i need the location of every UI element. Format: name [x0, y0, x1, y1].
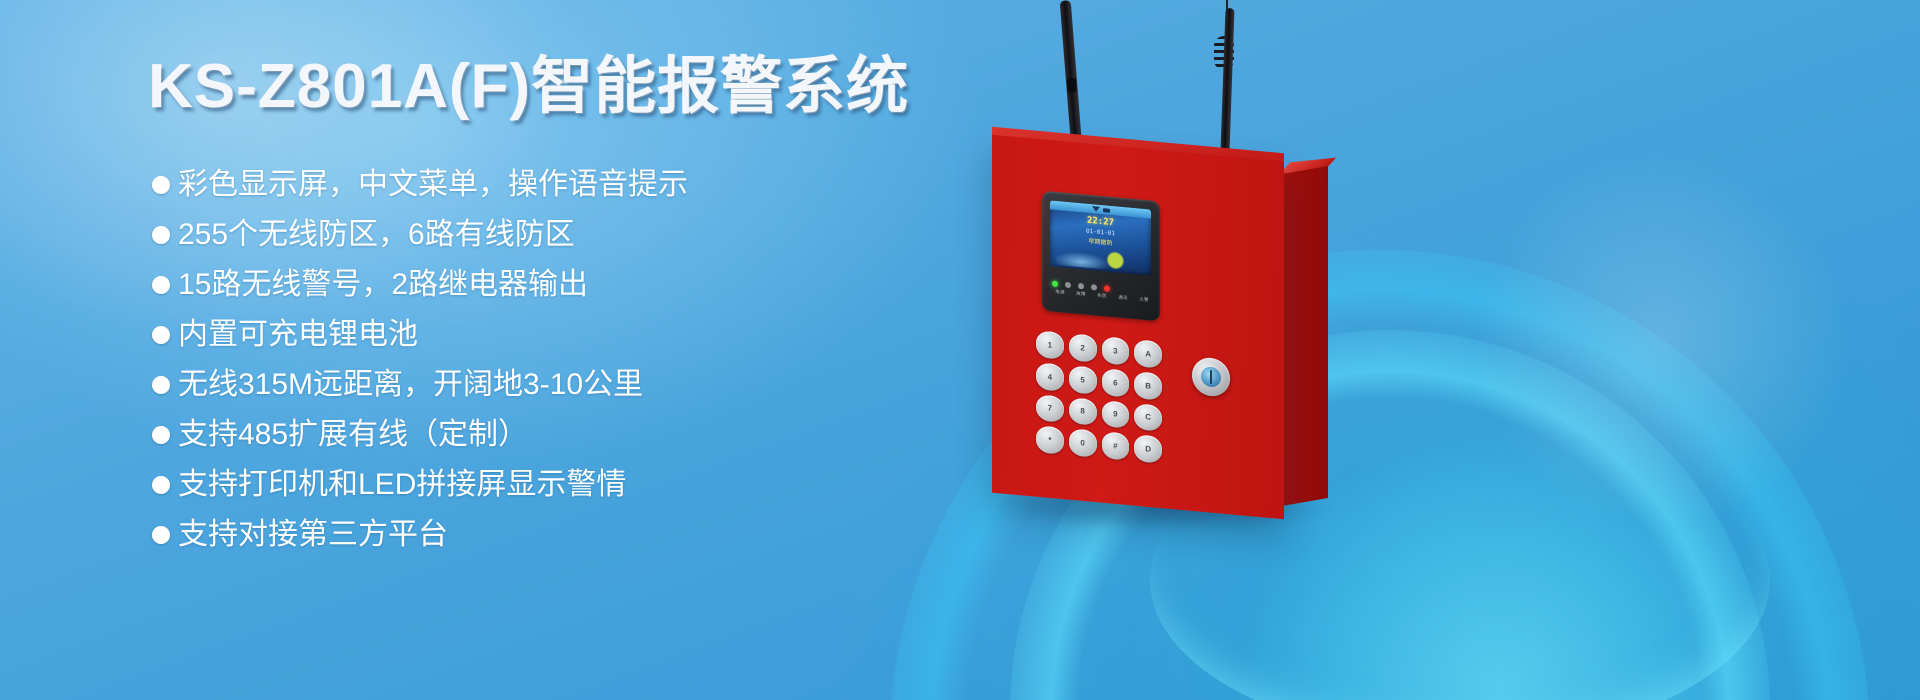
keypad-key[interactable]: C — [1134, 403, 1162, 432]
led-fault-indicator — [1065, 282, 1071, 289]
keypad-key[interactable]: 6 — [1102, 368, 1130, 397]
enclosure-side-panel — [1282, 166, 1328, 506]
bullet-dot-icon — [152, 476, 170, 494]
led-label: 火警 — [1136, 296, 1152, 306]
bullet-dot-icon — [152, 276, 170, 294]
banner-copy: KS-Z801A(F)智能报警系统 彩色显示屏，中文菜单，操作语音提示 255个… — [0, 0, 960, 700]
battery-icon — [1103, 208, 1110, 213]
feature-text: 无线315M远距离，开阔地3-10公里 — [178, 360, 643, 410]
keypad-key[interactable]: 7 — [1036, 394, 1064, 423]
led-label: 布防 — [1094, 292, 1110, 302]
feature-text: 支持485扩展有线（定制） — [178, 410, 528, 460]
keypad-key[interactable]: A — [1134, 339, 1162, 368]
feature-text: 15路无线警号，2路继电器输出 — [178, 260, 588, 310]
led-label: 故障 — [1073, 290, 1089, 300]
signal-icon — [1092, 206, 1100, 212]
antenna-right — [1220, 8, 1235, 166]
bullet-dot-icon — [152, 326, 170, 344]
keypad-key[interactable]: D — [1134, 434, 1162, 463]
feature-text: 支持对接第三方平台 — [178, 510, 448, 560]
led-label: 通讯 — [1115, 294, 1131, 304]
bullet-dot-icon — [152, 176, 170, 194]
feature-text: 内置可充电锂电池 — [178, 310, 418, 360]
lock-core — [1201, 366, 1221, 388]
feature-text: 支持打印机和LED拼接屏显示警情 — [178, 460, 626, 510]
keypad[interactable]: 1 2 3 A 4 5 6 B 7 8 9 C * 0 # D — [1036, 330, 1162, 463]
alarm-control-panel: 22:27 01-01-01 早期撤防 电源 故障 布防 通讯 火警 1 — [930, 0, 1430, 700]
keypad-key[interactable]: 1 — [1036, 330, 1064, 359]
led-power-indicator — [1052, 281, 1058, 288]
lock-keyslot — [1210, 370, 1212, 384]
feature-text: 彩色显示屏，中文菜单，操作语音提示 — [178, 160, 688, 210]
feature-list: 彩色显示屏，中文菜单，操作语音提示 255个无线防区，6路有线防区 15路无线警… — [152, 160, 688, 560]
keypad-key[interactable]: 9 — [1102, 400, 1130, 429]
bullet-dot-icon — [152, 226, 170, 244]
display-bezel: 22:27 01-01-01 早期撤防 电源 故障 布防 通讯 火警 — [1042, 191, 1160, 322]
feature-text: 255个无线防区，6路有线防区 — [178, 210, 575, 260]
list-item: 支持打印机和LED拼接屏显示警情 — [152, 460, 688, 510]
bullet-dot-icon — [152, 526, 170, 544]
keypad-key[interactable]: 5 — [1069, 365, 1097, 394]
list-item: 支持对接第三方平台 — [152, 510, 688, 560]
list-item: 无线315M远距离，开阔地3-10公里 — [152, 360, 688, 410]
bullet-dot-icon — [152, 376, 170, 394]
list-item: 255个无线防区，6路有线防区 — [152, 210, 688, 260]
page-title: KS-Z801A(F)智能报警系统 — [148, 56, 909, 118]
list-item: 支持485扩展有线（定制） — [152, 410, 688, 460]
led-alarm-indicator — [1104, 285, 1110, 292]
lcd-screen: 22:27 01-01-01 早期撤防 — [1050, 200, 1151, 275]
keypad-key[interactable]: * — [1036, 426, 1064, 455]
led-comm-indicator — [1091, 284, 1097, 291]
list-item: 内置可充电锂电池 — [152, 310, 688, 360]
led-arm-indicator — [1078, 283, 1084, 290]
keypad-key[interactable]: 8 — [1069, 397, 1097, 426]
led-label: 电源 — [1052, 289, 1068, 299]
keypad-key[interactable]: 3 — [1102, 336, 1130, 365]
keypad-key[interactable]: 4 — [1036, 362, 1064, 391]
keypad-key[interactable]: 0 — [1069, 428, 1097, 457]
list-item: 彩色显示屏，中文菜单，操作语音提示 — [152, 160, 688, 210]
keypad-key[interactable]: 2 — [1069, 333, 1097, 362]
keypad-key[interactable]: B — [1134, 371, 1162, 400]
bullet-dot-icon — [152, 426, 170, 444]
product-banner: KS-Z801A(F)智能报警系统 彩色显示屏，中文菜单，操作语音提示 255个… — [0, 0, 1920, 700]
keypad-key[interactable]: # — [1102, 431, 1130, 460]
list-item: 15路无线警号，2路继电器输出 — [152, 260, 688, 310]
